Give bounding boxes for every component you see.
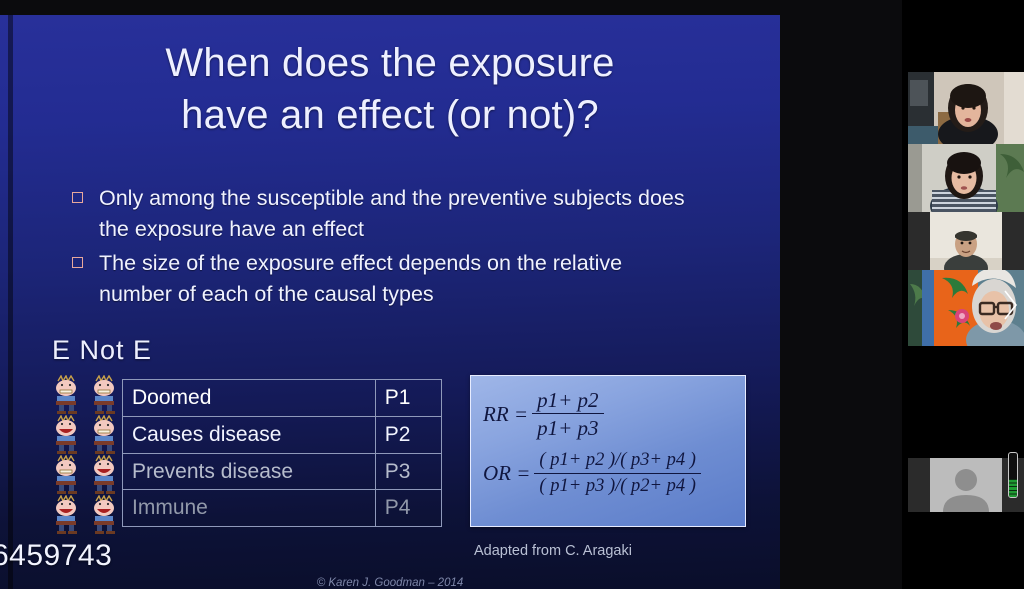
formula-or-denominator: ( p1+ p3 )/( p2+ p4 ) xyxy=(534,474,701,497)
audio-level-meter xyxy=(1008,452,1018,498)
slide-title-line-1: When does the exposure xyxy=(40,37,740,89)
formula-or-lhs: OR = xyxy=(483,461,530,486)
presentation-slide: When does the exposure have an effect (o… xyxy=(0,15,780,589)
square-bullet-icon xyxy=(72,192,83,203)
formula-rr-lhs: RR = xyxy=(483,402,528,427)
slide-credit: Adapted from C. Aragaki xyxy=(474,543,632,559)
formula-rr-numerator: p1+ p2 xyxy=(532,388,603,414)
table-cell-proportion: P3 xyxy=(375,453,441,490)
formula-box: RR = p1+ p2 p1+ p3 OR = ( p1+ p2 )/( p3+… xyxy=(470,375,746,527)
participant-tile-5[interactable] xyxy=(908,458,1024,512)
bullet-item: Only among the susceptible and the preve… xyxy=(72,183,692,246)
cartoon-person-icon xyxy=(48,495,86,535)
participant-tile-3[interactable] xyxy=(908,212,1024,270)
table-row: Immune P4 xyxy=(123,490,442,527)
table-row: Prevents disease P3 xyxy=(123,453,442,490)
square-bullet-icon xyxy=(72,257,83,268)
participant-3-video xyxy=(930,212,1002,270)
table-row: Causes disease P2 xyxy=(123,416,442,453)
table-cell-label: Doomed xyxy=(123,380,376,417)
participant-5-avatar xyxy=(930,458,1002,512)
cartoon-person-icon xyxy=(48,455,86,495)
cartoon-person-icon xyxy=(86,415,124,455)
slide-title: When does the exposure have an effect (o… xyxy=(40,37,740,141)
causal-types-table: Doomed P1 Causes disease P2 Prevents dis… xyxy=(122,379,442,527)
table-cell-proportion: P2 xyxy=(375,416,441,453)
participant-1-video xyxy=(908,72,1024,144)
table-cell-label: Immune xyxy=(123,490,376,527)
bullet-list: Only among the susceptible and the preve… xyxy=(72,183,692,313)
cartoon-person-icon xyxy=(86,495,124,535)
participant-tile-2[interactable] xyxy=(908,144,1024,212)
chevron-right-icon[interactable] xyxy=(1000,288,1020,322)
meeting-id-overlay: 6459743 xyxy=(0,539,112,573)
formula-or-numerator: ( p1+ p2 )/( p3+ p4 ) xyxy=(534,450,701,473)
cartoon-person-icon xyxy=(86,375,124,415)
bullet-text: Only among the susceptible and the preve… xyxy=(99,183,692,246)
formula-odds-ratio: OR = ( p1+ p2 )/( p3+ p4 ) ( p1+ p3 )/( … xyxy=(483,450,735,497)
cartoon-person-icon xyxy=(86,455,124,495)
slide-copyright: © Karen J. Goodman – 2014 xyxy=(0,577,780,589)
formula-or-fraction: ( p1+ p2 )/( p3+ p4 ) ( p1+ p3 )/( p2+ p… xyxy=(534,450,701,497)
slide-title-line-2: have an effect (or not)? xyxy=(40,89,740,141)
table-cell-proportion: P1 xyxy=(375,380,441,417)
formula-rr-denominator: p1+ p3 xyxy=(532,414,603,440)
bullet-text: The size of the exposure effect depends … xyxy=(99,248,692,311)
audio-level-fill xyxy=(1009,479,1017,497)
participant-tile-1[interactable] xyxy=(908,72,1024,144)
video-conference-stage: When does the exposure have an effect (o… xyxy=(0,0,1024,589)
table-cell-label: Prevents disease xyxy=(123,453,376,490)
cartoon-figure-grid xyxy=(48,375,124,535)
bullet-item: The size of the exposure effect depends … xyxy=(72,248,692,311)
table-cell-proportion: P4 xyxy=(375,490,441,527)
cartoon-person-icon xyxy=(48,415,86,455)
exposure-column-header: E Not E xyxy=(52,335,152,366)
formula-rr-fraction: p1+ p2 p1+ p3 xyxy=(532,388,603,440)
shared-screen-area: When does the exposure have an effect (o… xyxy=(0,0,902,589)
table-row: Doomed P1 xyxy=(123,380,442,417)
table-cell-label: Causes disease xyxy=(123,416,376,453)
cartoon-person-icon xyxy=(48,375,86,415)
participant-2-video xyxy=(908,144,1024,212)
formula-risk-ratio: RR = p1+ p2 p1+ p3 xyxy=(483,388,735,440)
